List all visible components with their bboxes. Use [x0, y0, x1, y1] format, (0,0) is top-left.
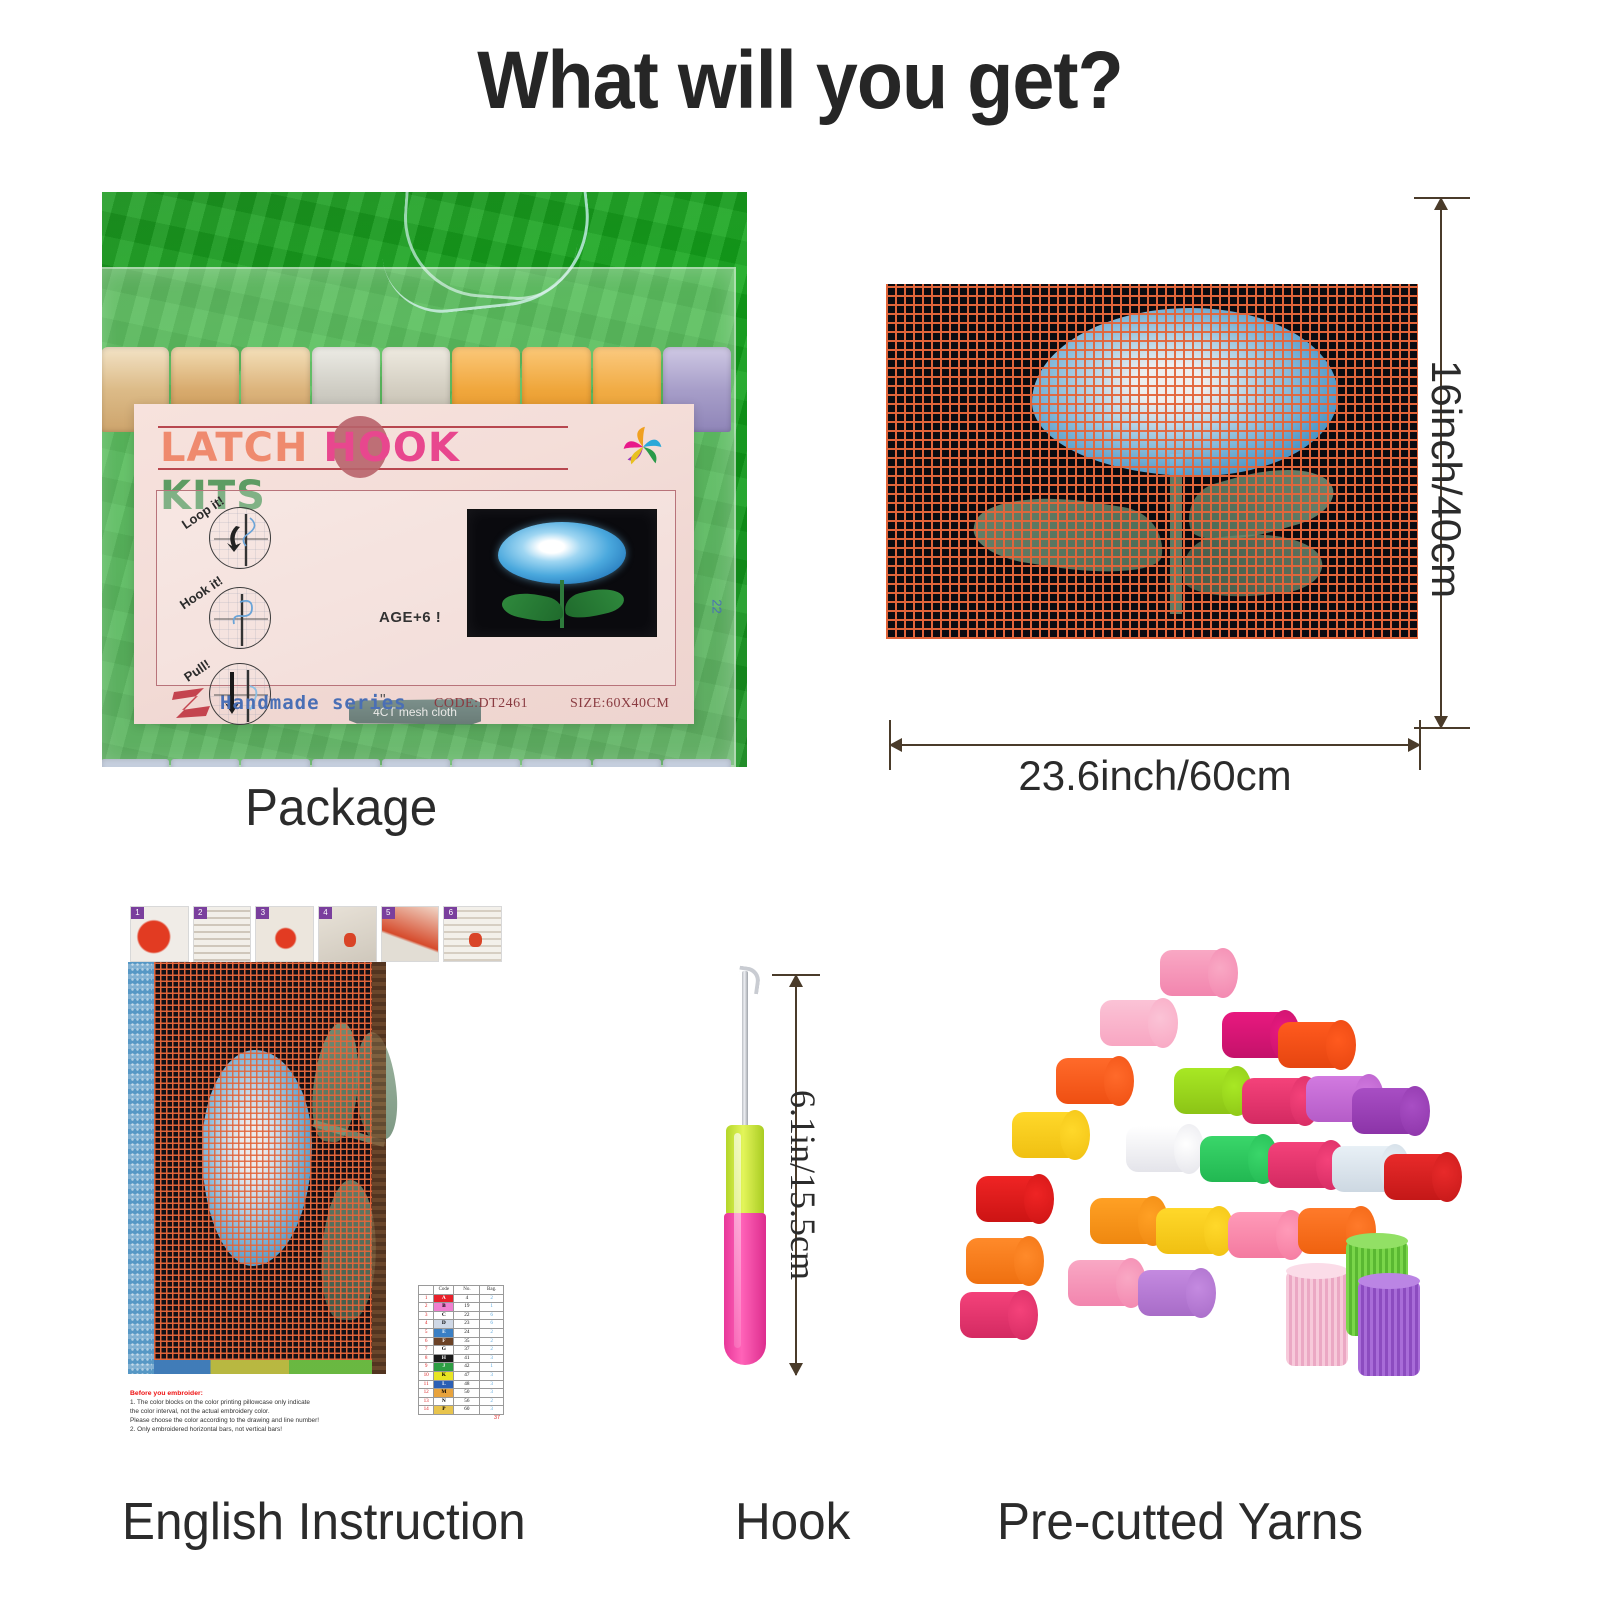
- step-photo: 3: [255, 906, 314, 962]
- legend-cell-index: 7: [419, 1346, 434, 1355]
- legend-cell-no: 35: [454, 1337, 480, 1346]
- legend-cell-code: G: [434, 1346, 454, 1355]
- yarn-bundle: [1012, 1112, 1090, 1158]
- caption-english-instruction: English Instruction: [122, 1492, 526, 1552]
- legend-header-index: [419, 1286, 434, 1295]
- hook-handle-highlight: [734, 1133, 741, 1348]
- notice-line: 1. The color blocks on the color printin…: [130, 1398, 420, 1407]
- step-label-pull: Pull!: [181, 656, 213, 684]
- legend-row: 13N562: [419, 1397, 504, 1406]
- notice-line: Please choose the color according to the…: [130, 1416, 420, 1425]
- yarn-bundle-end: [1208, 948, 1238, 998]
- legend-cell-no: 42: [454, 1363, 480, 1372]
- hook-length-label: 6.1in/15.5cm: [782, 1090, 824, 1280]
- yarn-row-bottom: [102, 759, 732, 767]
- step-diagram-loop: [209, 507, 271, 569]
- yarn-bundle: [1352, 1088, 1430, 1134]
- yarn-bundle: [1156, 1208, 1234, 1254]
- legend-cell-index: 9: [419, 1363, 434, 1372]
- legend-row: 11L483: [419, 1380, 504, 1389]
- legend-cell-code: K: [434, 1371, 454, 1380]
- legend-cell-code: P: [434, 1406, 454, 1415]
- yarn-stack: [1286, 1270, 1348, 1366]
- brand-name: Handmade series: [220, 692, 407, 714]
- step-photo-number: 4: [319, 907, 332, 919]
- step-diagram-hook: [209, 587, 271, 649]
- legend-cell-no: 4: [454, 1294, 480, 1303]
- legend-cell-bag: 3: [480, 1380, 504, 1389]
- legend-row: 8H413: [419, 1354, 504, 1363]
- product-code: CODE:DT2461: [434, 696, 528, 712]
- plastic-bag: LATCH HOOK KITS Loop it!: [102, 267, 736, 767]
- legend-cell-no: 48: [454, 1380, 480, 1389]
- caption-hook: Hook: [735, 1492, 850, 1552]
- legend-cell-bag: 2: [480, 1328, 504, 1337]
- design-preview-image: [467, 509, 657, 637]
- yarn-bundle-end: [1400, 1086, 1430, 1136]
- legend-cell-no: 37: [454, 1346, 480, 1355]
- caption-package: Package: [245, 778, 437, 838]
- package-photo: LATCH HOOK KITS Loop it!: [102, 192, 747, 767]
- yarn-bundle: [1228, 1212, 1306, 1258]
- instruction-sheet: 1 2 3 4 5 6: [122, 900, 514, 1475]
- before-you-embroider-notice: Before you embroider: 1. The color block…: [130, 1390, 420, 1434]
- step-photo-strip: 1 2 3 4 5 6: [130, 906, 502, 962]
- legend-cell-index: 6: [419, 1337, 434, 1346]
- yarn-bundle-end: [1104, 1056, 1134, 1106]
- legend-cell-code: F: [434, 1337, 454, 1346]
- step-photo-number: 5: [382, 907, 395, 919]
- legend-row: 12M503: [419, 1389, 504, 1398]
- yarn-bundle: [1138, 1270, 1216, 1316]
- canvas-leaf-right-lower: [1179, 527, 1325, 603]
- chart-grid-field: [154, 962, 372, 1360]
- legend-row: 7G372: [419, 1346, 504, 1355]
- legend-row: 6F352: [419, 1337, 504, 1346]
- page-title: What will you get?: [64, 34, 1536, 128]
- notice-line: the color interval, not the actual embro…: [130, 1407, 420, 1416]
- yarn-bundle-end: [1060, 1110, 1090, 1160]
- legend-cell-code: B: [434, 1303, 454, 1312]
- legend-cell-bag: 1: [480, 1363, 504, 1372]
- step-photo: 1: [130, 906, 189, 962]
- legend-cell-bag: 2: [480, 1294, 504, 1303]
- legend-cell-no: 60: [454, 1406, 480, 1415]
- notice-line: 2. Only embroidered horizontal bars, not…: [130, 1425, 420, 1434]
- legend-cell-code: N: [434, 1397, 454, 1406]
- legend-cell-bag: 3: [480, 1354, 504, 1363]
- step-photo-number: 2: [194, 907, 207, 919]
- yarn-bundle: [960, 1292, 1038, 1338]
- product-size: SIZE:60X40CM: [570, 696, 669, 712]
- step-photo: 6: [443, 906, 502, 962]
- legend-cell-no: 23: [454, 1320, 480, 1329]
- legend-cell-code: C: [434, 1311, 454, 1320]
- step-photo-number: 3: [256, 907, 269, 919]
- legend-cell-index: 12: [419, 1389, 434, 1398]
- hook-handle-upper: [726, 1125, 764, 1215]
- chart-ruler-dots: [130, 962, 152, 1374]
- yarn-stack-top: [1286, 1263, 1348, 1279]
- age-recommendation: AGE+6 !: [379, 609, 441, 626]
- yarn-stack: [1358, 1280, 1420, 1376]
- yarn-stack-top: [1346, 1233, 1408, 1249]
- legend-cell-no: 41: [454, 1354, 480, 1363]
- brand-z-logo-icon: [170, 684, 214, 720]
- legend-cell-no: 50: [454, 1389, 480, 1398]
- yarn-bundle: [1126, 1126, 1204, 1172]
- label-title-word-latch: LATCH: [160, 425, 308, 471]
- step-photo: 5: [381, 906, 440, 962]
- legend-cell-bag: 6: [480, 1320, 504, 1329]
- legend-cell-no: 47: [454, 1371, 480, 1380]
- label-footer: Handmade series " CODE:DT2461 SIZE:60X40…: [158, 690, 680, 720]
- legend-total: 37: [418, 1415, 504, 1421]
- legend-row: 5E242: [419, 1328, 504, 1337]
- yarn-bundle: [1056, 1058, 1134, 1104]
- pinwheel-logo-icon: [614, 418, 672, 476]
- yarn-stack-tube: [1358, 1280, 1420, 1376]
- legend-cell-no: 19: [454, 1303, 480, 1312]
- legend-cell-index: 13: [419, 1397, 434, 1406]
- legend-cell-bag: 2: [480, 1397, 504, 1406]
- step-photo: 4: [318, 906, 377, 962]
- legend-cell-code: M: [434, 1389, 454, 1398]
- label-title: LATCH HOOK KITS: [160, 424, 580, 472]
- preview-leaf-left: [500, 588, 566, 626]
- yarn-bundle-end: [1148, 998, 1178, 1048]
- legend-row: 14P603: [419, 1406, 504, 1415]
- printed-rose-design: [886, 284, 1418, 639]
- legend-cell-no: 24: [454, 1328, 480, 1337]
- yarn-stack-tube: [1286, 1270, 1348, 1366]
- legend-header-no: No.: [454, 1286, 480, 1295]
- yarn-bundle: [1160, 950, 1238, 996]
- yarn-bundle-end: [1326, 1020, 1356, 1070]
- canvas-width-label: 23.6inch/60cm: [890, 752, 1420, 800]
- yarn-bundle-end: [1008, 1290, 1038, 1340]
- legend-cell-index: 11: [419, 1380, 434, 1389]
- yarn-bundle: [1174, 1068, 1252, 1114]
- canvas-leaf-left: [970, 485, 1169, 584]
- step-photo-number: 6: [444, 907, 457, 919]
- pattern-chart: [128, 962, 386, 1374]
- canvas-width-dimension-line: [890, 744, 1420, 746]
- hook-handle-lower: [724, 1213, 766, 1365]
- yarn-bundle: [1384, 1154, 1462, 1200]
- legend-cell-bag: 6: [480, 1311, 504, 1320]
- yarn-bundle-end: [1186, 1268, 1216, 1318]
- legend-cell-bag: 3: [480, 1389, 504, 1398]
- legend-header-code: Code: [434, 1286, 454, 1295]
- yarn-stack-top: [1358, 1273, 1420, 1289]
- legend-header-row: Code No. Bag.: [419, 1286, 504, 1295]
- legend-row: 2B191: [419, 1303, 504, 1312]
- legend-cell-bag: 3: [480, 1406, 504, 1415]
- yarn-bundle: [1068, 1260, 1146, 1306]
- legend-cell-bag: 2: [480, 1337, 504, 1346]
- legend-row: 9J421: [419, 1363, 504, 1372]
- legend-cell-code: A: [434, 1294, 454, 1303]
- infographic-page: What will you get? LATCH HOOK KITS: [0, 0, 1600, 1600]
- legend-body: 1A422B1913C2264D2365E2426F3527G3728H4139…: [419, 1294, 504, 1414]
- preview-rose: [498, 522, 626, 584]
- canvas-height-label: 16inch/40cm: [1422, 360, 1470, 598]
- package-label: LATCH HOOK KITS Loop it!: [134, 404, 694, 724]
- legend-cell-code: D: [434, 1320, 454, 1329]
- preview-leaf-right: [562, 583, 627, 623]
- yarn-bundle: [1200, 1136, 1278, 1182]
- step-photo-number: 1: [131, 907, 144, 919]
- mesh-canvas: [886, 284, 1418, 639]
- canvas-rose: [1032, 308, 1338, 476]
- yarn-bundle: [966, 1238, 1044, 1284]
- yarn-bundle: [976, 1176, 1054, 1222]
- bag-edge-number: 22: [709, 599, 724, 613]
- legend-row: 10K473: [419, 1371, 504, 1380]
- legend-cell-no: 22: [454, 1311, 480, 1320]
- legend-cell-bag: 2: [480, 1346, 504, 1355]
- legend-cell-bag: 3: [480, 1371, 504, 1380]
- chart-leaf-bottom: [318, 1179, 379, 1322]
- legend-cell-index: 8: [419, 1354, 434, 1363]
- notice-title: Before you embroider:: [130, 1390, 420, 1397]
- step-photo: 2: [193, 906, 252, 962]
- hook-needle: [742, 971, 748, 1131]
- legend-cell-index: 5: [419, 1328, 434, 1337]
- yarn-bundle-pile: [960, 940, 1460, 1420]
- legend-row: 1A42: [419, 1294, 504, 1303]
- chart-bottom-colorstrip: [154, 1360, 372, 1374]
- legend-cell-code: E: [434, 1328, 454, 1337]
- yarn-bundle-end: [1432, 1152, 1462, 1202]
- label-title-word-hook: HOOK: [323, 425, 459, 471]
- caption-precutted-yarns: Pre-cutted Yarns: [997, 1492, 1363, 1552]
- legend-cell-bag: 1: [480, 1303, 504, 1312]
- legend-cell-code: L: [434, 1380, 454, 1389]
- chart-right-border: [372, 962, 386, 1374]
- yarn-bundle: [1278, 1022, 1356, 1068]
- yarn-bundle-end: [1014, 1236, 1044, 1286]
- legend-cell-index: 10: [419, 1371, 434, 1380]
- legend-cell-index: 14: [419, 1406, 434, 1415]
- legend-row: 3C226: [419, 1311, 504, 1320]
- chart-rose: [202, 1050, 312, 1266]
- quote-mark: ": [380, 692, 386, 710]
- legend-cell-index: 2: [419, 1303, 434, 1312]
- legend-table: Code No. Bag. 1A422B1913C2264D2365E2426F…: [418, 1285, 504, 1415]
- legend-cell-code: J: [434, 1363, 454, 1372]
- legend-cell-index: 4: [419, 1320, 434, 1329]
- canvas-stem: [1170, 454, 1182, 614]
- legend-cell-index: 3: [419, 1311, 434, 1320]
- hook-barb: [736, 966, 761, 995]
- legend-cell-code: H: [434, 1354, 454, 1363]
- color-legend-table: Code No. Bag. 1A422B1913C2264D2365E2426F…: [418, 1285, 504, 1421]
- label-instruction-box: Loop it! Hook it!: [156, 490, 676, 686]
- legend-header-bag: Bag.: [480, 1286, 504, 1295]
- yarn-bundle-end: [1024, 1174, 1054, 1224]
- legend-cell-no: 56: [454, 1397, 480, 1406]
- legend-cell-index: 1: [419, 1294, 434, 1303]
- yarn-bundle: [1100, 1000, 1178, 1046]
- legend-row: 4D236: [419, 1320, 504, 1329]
